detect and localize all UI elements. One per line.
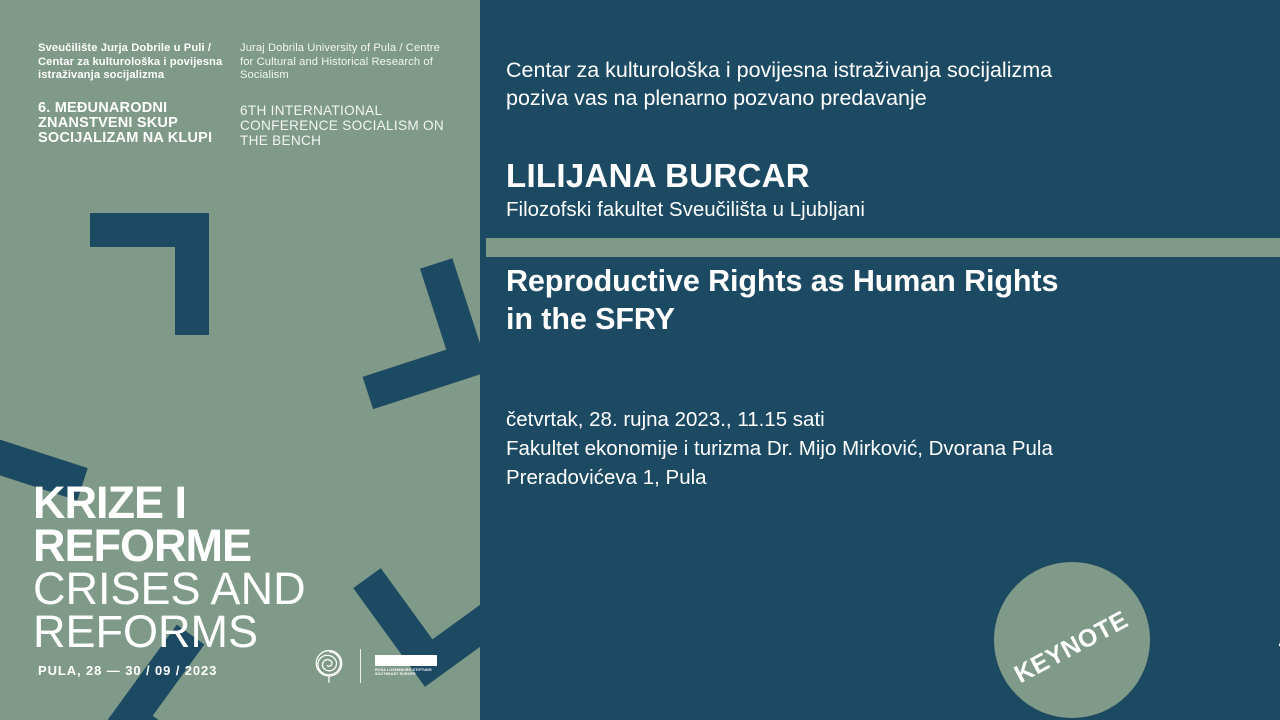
event-details: četvrtak, 28. rujna 2023., 11.15 sati Fa… bbox=[506, 405, 1266, 492]
speaker-name: LILIJANA BURCAR bbox=[506, 157, 865, 195]
header-title-en: 6TH INTERNATIONAL CONFERENCE SOCIALISM O… bbox=[240, 103, 455, 149]
keynote-badge: KEYNOTE bbox=[994, 562, 1150, 718]
conference-theme-title: KRIZE I REFORME CRISES AND REFORMS bbox=[33, 481, 453, 653]
header-subtitle-hr: Sveučilište Jurja Dobrile u Puli / Centa… bbox=[38, 42, 228, 83]
rls-logo-bar bbox=[375, 655, 437, 666]
speaker-affiliation: Filozofski fakultet Sveučilišta u Ljublj… bbox=[506, 197, 865, 223]
invitation-text: Centar za kulturološka i povijesna istra… bbox=[506, 56, 1246, 112]
cchrs-star-bracket-icon bbox=[1266, 552, 1280, 714]
speaker-block: LILIJANA BURCAR Filozofski fakultet Sveu… bbox=[506, 157, 865, 223]
event-venue: Fakultet ekonomije i turizma Dr. Mijo Mi… bbox=[506, 434, 1266, 463]
right-panel: Centar za kulturološka i povijesna istra… bbox=[480, 0, 1280, 720]
lecture-title: Reproductive Rights as Human Rights in t… bbox=[506, 262, 1236, 338]
logo-divider bbox=[360, 649, 361, 683]
sponsor-logo-row: ROSA LUXEMBURG STIFTUNG SOUTHEAST EUROPE bbox=[312, 648, 437, 684]
invitation-line-1: Centar za kulturološka i povijesna istra… bbox=[506, 56, 1246, 84]
header-title-hr: 6. MEĐUNARODNI ZNANSTVENI SKUP SOCIJALIZ… bbox=[38, 101, 228, 146]
cchrs-logo: CENTAR ZA KULTUROLOŠKA I POVIJESNA ISTRA… bbox=[1266, 552, 1280, 714]
header-subtitle-en: Juraj Dobrila University of Pula / Centr… bbox=[240, 42, 455, 83]
event-datetime: četvrtak, 28. rujna 2023., 11.15 sati bbox=[506, 405, 1266, 434]
rosa-luxemburg-stiftung-logo: ROSA LUXEMBURG STIFTUNG SOUTHEAST EUROPE bbox=[375, 655, 437, 677]
invitation-line-2: poziva vas na plenarno pozvano predavanj… bbox=[506, 84, 1246, 112]
poster-canvas: Sveučilište Jurja Dobrile u Puli / Centa… bbox=[0, 0, 1280, 720]
left-panel: Sveučilište Jurja Dobrile u Puli / Centa… bbox=[0, 0, 480, 720]
lecture-title-line-2: in the SFRY bbox=[506, 300, 1236, 338]
theme-line-crises: CRISES AND bbox=[33, 567, 453, 610]
conference-date-location: PULA, 28 — 30 / 09 / 2023 bbox=[38, 663, 217, 678]
rls-region: SOUTHEAST EUROPE bbox=[375, 672, 437, 677]
theme-line-reforme: REFORME bbox=[33, 524, 453, 567]
keynote-label-wrap: KEYNOTE bbox=[994, 562, 1150, 718]
university-spiral-icon bbox=[312, 648, 346, 684]
conference-header-croatian: Sveučilište Jurja Dobrile u Puli / Centa… bbox=[38, 42, 228, 146]
theme-line-reforms: REFORMS bbox=[33, 610, 453, 653]
theme-line-krize: KRIZE I bbox=[33, 481, 453, 524]
lecture-title-line-1: Reproductive Rights as Human Rights bbox=[506, 262, 1236, 300]
section-divider-bar bbox=[486, 238, 1280, 257]
rls-logo-text: ROSA LUXEMBURG STIFTUNG SOUTHEAST EUROPE bbox=[375, 668, 437, 677]
conference-header-english: Juraj Dobrila University of Pula / Centr… bbox=[240, 42, 455, 148]
keynote-label: KEYNOTE bbox=[1010, 605, 1133, 689]
event-address: Preradovićeva 1, Pula bbox=[506, 463, 1266, 492]
